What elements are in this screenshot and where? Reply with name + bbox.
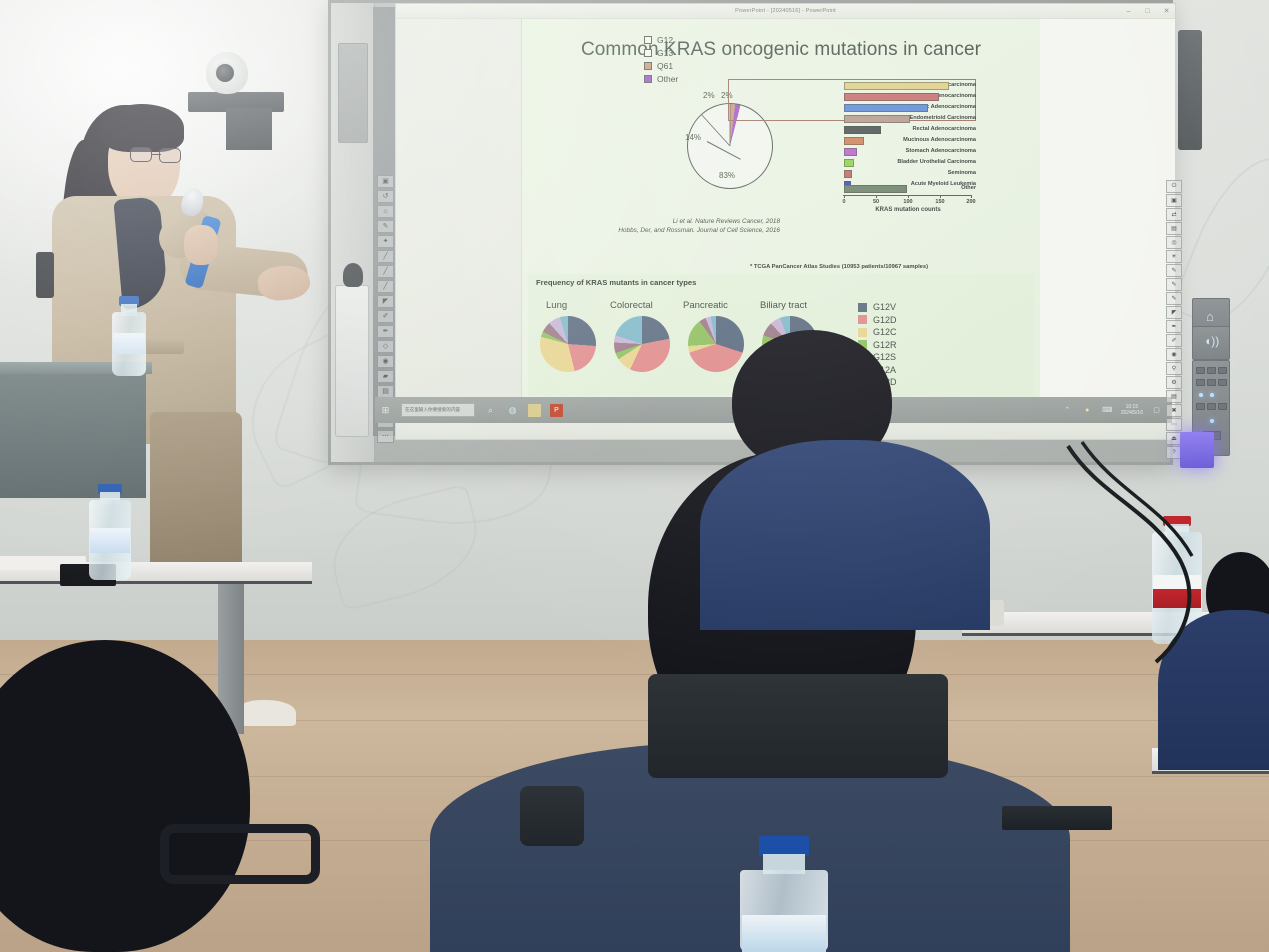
bar-pancreatic [844, 104, 928, 112]
select-tool-icon[interactable]: ▣ [377, 175, 394, 188]
bar-seminoma [844, 170, 852, 178]
system-tray[interactable]: ⌃ ● ⌨ 10:15 2024/5/16 ▢ [1061, 404, 1168, 417]
clock-date: 2024/5/16 [1121, 410, 1143, 416]
legend-swatch-q61 [644, 62, 652, 70]
file-explorer-icon[interactable] [528, 404, 541, 417]
source-icon[interactable]: ⇄ [1166, 208, 1182, 221]
legend-swatch-g12d [858, 315, 867, 324]
legend-label: G13 [657, 48, 673, 58]
taskbar-clock[interactable]: 10:15 2024/5/16 [1121, 404, 1143, 417]
bar-lung [844, 82, 949, 90]
settings-icon[interactable]: ⚙ [1166, 376, 1182, 389]
legend-label: Q61 [657, 61, 673, 71]
bar-colon [844, 93, 939, 101]
kras-mutation-counts-bar-chart: Lung Adenocarcinoma Colon Adenocarcinoma… [728, 77, 976, 205]
bar-category-label: Mucinous Adenocarcinoma [864, 137, 976, 143]
citation-line: Li et al. Nature Reviews Cancer, 2018 [536, 217, 780, 226]
pen-thick-tool-icon[interactable]: ╱ [377, 280, 394, 293]
lecture-room-photo: ▣ ↺ ⌂ ✎ ✦ ╱ ╱ ╱ ◤ ✐ ✒ ◇ ◉ ▰ ▤ ⚙ ✖ ⋯ Powe… [0, 0, 1269, 952]
legend-item: G13 [644, 48, 678, 58]
legend-swatch-g12 [644, 36, 652, 44]
x-tick-label: 0 [842, 199, 845, 205]
bottle-label [742, 915, 826, 952]
audience-shoulders [700, 440, 990, 630]
legend-item: G12D [858, 315, 897, 325]
mini-pie-title-lung: Lung [546, 300, 567, 311]
mic-icon[interactable]: ⚲ [1166, 362, 1182, 375]
lectern [0, 368, 146, 498]
mini-pie-colorectal [614, 316, 670, 372]
bar-category-label: Stomach Adenocarcinoma [864, 148, 976, 154]
search-placeholder: 在这里输入你要搜索的内容 [405, 407, 460, 413]
bottle-label [113, 333, 146, 354]
pie-chart-legend: G12 G13 Q61 Other [644, 35, 678, 87]
glasses-left-lens-icon [130, 147, 152, 162]
citation-line: Hobbs, Der, and Rossman. Journal of Cell… [536, 226, 780, 235]
eraser-tool-icon[interactable]: ◤ [377, 295, 394, 308]
legend-item: G12C [858, 327, 897, 337]
glasses-bridge [152, 154, 161, 155]
close-icon[interactable]: ✖ [1166, 404, 1182, 417]
bar-rectal [844, 126, 881, 134]
legend-label: G12V [873, 302, 896, 312]
pen-icon[interactable]: ✎ [1166, 292, 1182, 305]
close-button[interactable]: ✕ [1162, 8, 1171, 15]
legend-item: G12 [644, 35, 678, 45]
legend-label: Other [657, 74, 678, 84]
maximize-button[interactable]: □ [1143, 8, 1152, 15]
pie-label-q61: 2% [703, 91, 715, 100]
legend-item: G12V [858, 302, 897, 312]
presenter-fringe [100, 104, 184, 152]
legend-swatch-other [644, 75, 652, 83]
mini-pie-title-pancreatic: Pancreatic [683, 300, 728, 311]
x-tick-label: 200 [966, 199, 975, 205]
water-bottle [112, 296, 146, 376]
highlight-tool-icon[interactable]: ✦ [377, 235, 394, 248]
lectern-mic-stand [36, 252, 54, 298]
camera-lens-icon [214, 62, 236, 84]
display-icon[interactable]: ▣ [1166, 194, 1182, 207]
legend-swatch-g13 [644, 49, 652, 57]
mini-pie-title-colorectal: Colorectal [610, 300, 653, 311]
pen-icon[interactable]: ✎ [1166, 278, 1182, 291]
pen-thin-tool-icon[interactable]: ╱ [377, 250, 394, 263]
mini-pie-lung [540, 316, 596, 372]
annotate-tool-icon[interactable]: ✎ [377, 220, 394, 233]
window-controls[interactable]: – □ ✕ [1124, 4, 1171, 19]
chevron-up-icon[interactable]: ⌃ [1061, 404, 1074, 417]
mini-pie-pancreatic [688, 316, 744, 372]
bar-uterine [844, 115, 910, 123]
x-tick-label: 50 [873, 199, 879, 205]
x-tick-label: 100 [903, 199, 912, 205]
volume-icon[interactable]: ◉ [1166, 348, 1182, 361]
camera-icon[interactable]: ◎ [1166, 236, 1182, 249]
bar-category-label: Seminoma [864, 170, 976, 176]
undo-tool-icon[interactable]: ↺ [377, 190, 394, 203]
pen-medium-tool-icon[interactable]: ╱ [377, 265, 394, 278]
light-icon[interactable]: ☀ [1166, 250, 1182, 263]
legend-item: Other [644, 74, 678, 84]
power-icon[interactable]: ⏻ [1166, 180, 1182, 193]
glasses-right-lens-icon [159, 148, 181, 163]
slide-title: Common KRAS oncogenic mutations in cance… [546, 39, 1016, 61]
legend-swatch-g12v [858, 303, 867, 312]
powerpoint-titlebar[interactable]: PowerPoint - [20240516] - PowerPoint – □… [396, 4, 1175, 19]
camera-mount-plate [226, 108, 272, 150]
water-bottle [740, 836, 828, 952]
frequency-section-title: Frequency of KRAS mutants in cancer type… [536, 278, 696, 287]
bar-x-axis [843, 195, 971, 196]
marker-tool-icon[interactable]: ✒ [377, 325, 394, 338]
cloud-icon[interactable]: ● [1081, 404, 1094, 417]
bar-x-axis-title: KRAS mutation counts [844, 207, 972, 213]
pen-icon[interactable]: ✎ [1166, 264, 1182, 277]
cable [1060, 440, 1240, 670]
board-side-rail [331, 3, 375, 462]
ceiling-speaker-right [1178, 30, 1202, 150]
projector-icon[interactable]: ▤ [1166, 222, 1182, 235]
powerpoint-window-title: PowerPoint - [20240516] - PowerPoint [735, 8, 836, 14]
home-tool-icon[interactable]: ⌂ [377, 205, 394, 218]
search-input[interactable]: 在这里输入你要搜索的内容 [401, 403, 475, 417]
legend-label: G12D [873, 315, 897, 325]
legend-item: Q61 [644, 61, 678, 71]
shape-tool-icon[interactable]: ◇ [377, 340, 394, 353]
search-icon[interactable]: ⌕ [484, 404, 497, 417]
powerpoint-icon[interactable]: P [550, 404, 563, 417]
slide-thumbnail-pane[interactable] [396, 19, 522, 417]
eraser-icon[interactable]: ◤ [1166, 306, 1182, 319]
brush-icon[interactable]: ✐ [1166, 334, 1182, 347]
laptop [1002, 806, 1112, 830]
legend-label: G12 [657, 35, 673, 45]
fill-tool-icon[interactable]: ▰ [377, 370, 394, 383]
bar-bladder [844, 159, 854, 167]
more-icon[interactable]: ⋯ [1166, 418, 1182, 431]
color-tool-icon[interactable]: ◉ [377, 355, 394, 368]
tcga-footnote: * TCGA PanCancer Atlas Studies (10953 pa… [750, 264, 928, 270]
windows-icon[interactable]: ⊞ [379, 404, 392, 417]
pie-label-g13: 14% [685, 133, 701, 142]
cortana-icon[interactable]: ◍ [506, 404, 519, 417]
bar-stomach [844, 148, 857, 156]
legend-swatch-g12c [858, 328, 867, 337]
keyboard-icon[interactable]: ⌨ [1101, 404, 1114, 417]
legend-label: G12C [873, 327, 897, 337]
board-marker-slot [338, 43, 368, 143]
legend-label: G12R [873, 340, 897, 350]
water-bottle [89, 484, 131, 580]
bottle-label [90, 528, 130, 553]
slide-citations: Li et al. Nature Reviews Cancer, 2018 Ho… [536, 217, 780, 236]
marker-icon[interactable]: ✒ [1166, 320, 1182, 333]
board-stylus-tray [335, 285, 369, 437]
presenter-trousers [150, 412, 242, 572]
bar-mucinous [844, 137, 864, 145]
x-tick-label: 150 [935, 199, 944, 205]
presenter-shoe [238, 700, 296, 726]
more-tool-icon[interactable]: ⋯ [377, 430, 394, 443]
chair [520, 786, 584, 846]
wall-speaker-panel[interactable]: ◖)) [1192, 326, 1230, 360]
chair [648, 674, 948, 778]
mini-pie-title-biliary: Biliary tract [760, 300, 807, 311]
bar-other [844, 185, 907, 193]
minimize-button[interactable]: – [1124, 8, 1133, 15]
save-icon[interactable]: ▤ [1166, 390, 1182, 403]
bar-category-label: Bladder Urothelial Carcinoma [864, 159, 976, 165]
presenter-mic-hand [184, 225, 218, 265]
brush-tool-icon[interactable]: ✐ [377, 310, 394, 323]
bottle-cap [759, 836, 808, 856]
notification-icon[interactable]: ▢ [1150, 404, 1163, 417]
eyeglasses-icon [160, 824, 320, 884]
